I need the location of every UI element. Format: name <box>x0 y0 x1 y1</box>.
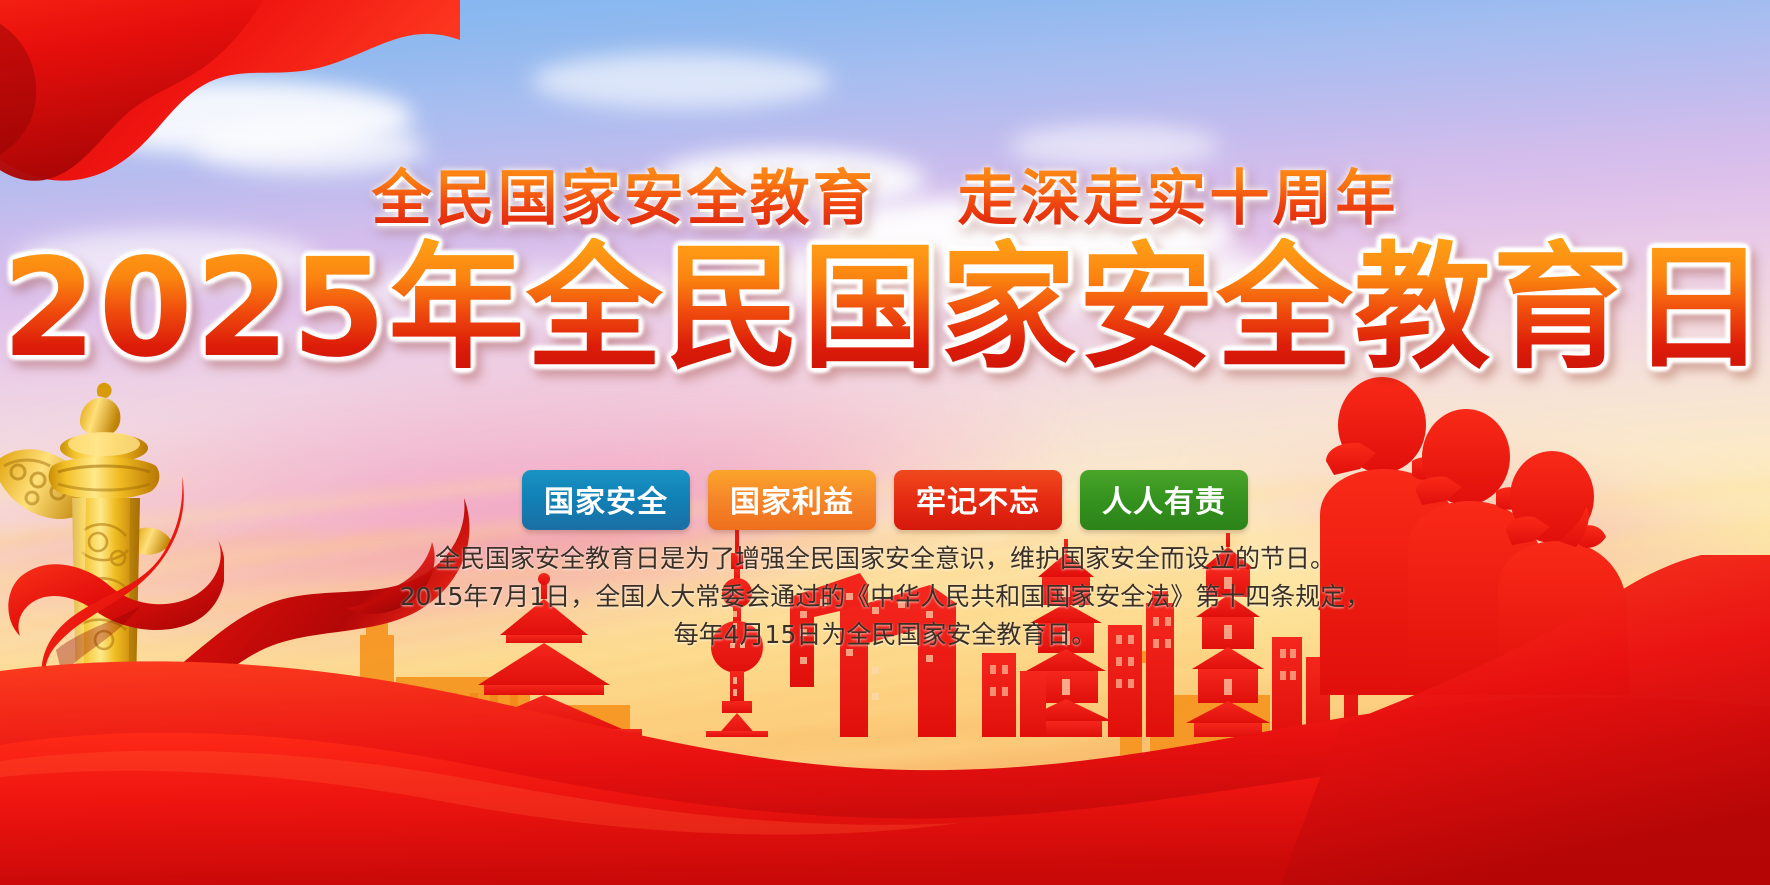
poster-main-title: 2025年全民国家安全教育日 <box>0 238 1770 381</box>
keyword-badge-row: 国家安全 国家利益 牢记不忘 人人有责 <box>0 470 1770 530</box>
poster-description: 全民国家安全教育日是为了增强全民国家安全意识，维护国家安全而设立的节日。 201… <box>0 540 1770 654</box>
description-line-2: 2015年7月1日，全国人大常委会通过的《中华人民共和国国家安全法》第十四条规定… <box>0 578 1770 616</box>
poster-subtitle: 全民国家安全教育 走深走实十周年 <box>0 150 1770 237</box>
description-line-3: 每年4月15日为全民国家安全教育日。 <box>0 616 1770 654</box>
poster-canvas: 全民国家安全教育 走深走实十周年 2025年全民国家安全教育日 国家安全 国家利… <box>0 0 1770 885</box>
subtitle-part-2: 走深走实十周年 <box>957 164 1398 234</box>
description-line-1: 全民国家安全教育日是为了增强全民国家安全意识，维护国家安全而设立的节日。 <box>0 540 1770 578</box>
badge-remember-always[interactable]: 牢记不忘 <box>894 470 1062 530</box>
badge-national-security[interactable]: 国家安全 <box>522 470 690 530</box>
badge-everyone-responsible[interactable]: 人人有责 <box>1080 470 1248 530</box>
badge-national-interest[interactable]: 国家利益 <box>708 470 876 530</box>
subtitle-part-1: 全民国家安全教育 <box>372 164 876 234</box>
poster-content: 全民国家安全教育 走深走实十周年 2025年全民国家安全教育日 国家安全 国家利… <box>0 0 1770 885</box>
